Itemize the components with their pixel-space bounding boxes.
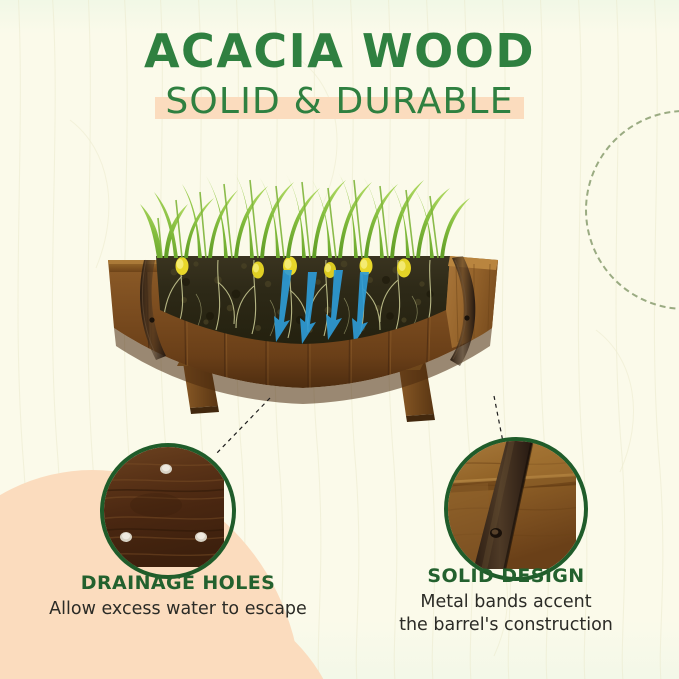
callout-solid-design (444, 437, 588, 581)
plant-seedlings (140, 172, 470, 258)
caption-text-drainage-line-1: Allow excess water to escape (8, 598, 348, 621)
callout-drainage-holes (100, 443, 236, 579)
subtitle-wrapper: SOLID & DURABLE (155, 82, 523, 122)
caption-title-drainage: DRAINAGE HOLES (8, 572, 348, 594)
caption-title-design: SOLID DESIGN (340, 565, 672, 587)
page-subtitle: SOLID & DURABLE (165, 82, 513, 122)
page-title: ACACIA WOOD (0, 28, 679, 76)
caption-text-design-line-2: the barrel's construction (340, 614, 672, 637)
heading-block: ACACIA WOOD SOLID & DURABLE (0, 28, 679, 121)
infographic-canvas: ACACIA WOOD SOLID & DURABLE (0, 0, 679, 679)
caption-text-design-line-1: Metal bands accent (340, 591, 672, 614)
caption-solid-design: SOLID DESIGN Metal bands accent the barr… (340, 565, 672, 637)
caption-drainage-holes: DRAINAGE HOLES Allow excess water to esc… (8, 572, 348, 621)
product-image (78, 160, 528, 450)
